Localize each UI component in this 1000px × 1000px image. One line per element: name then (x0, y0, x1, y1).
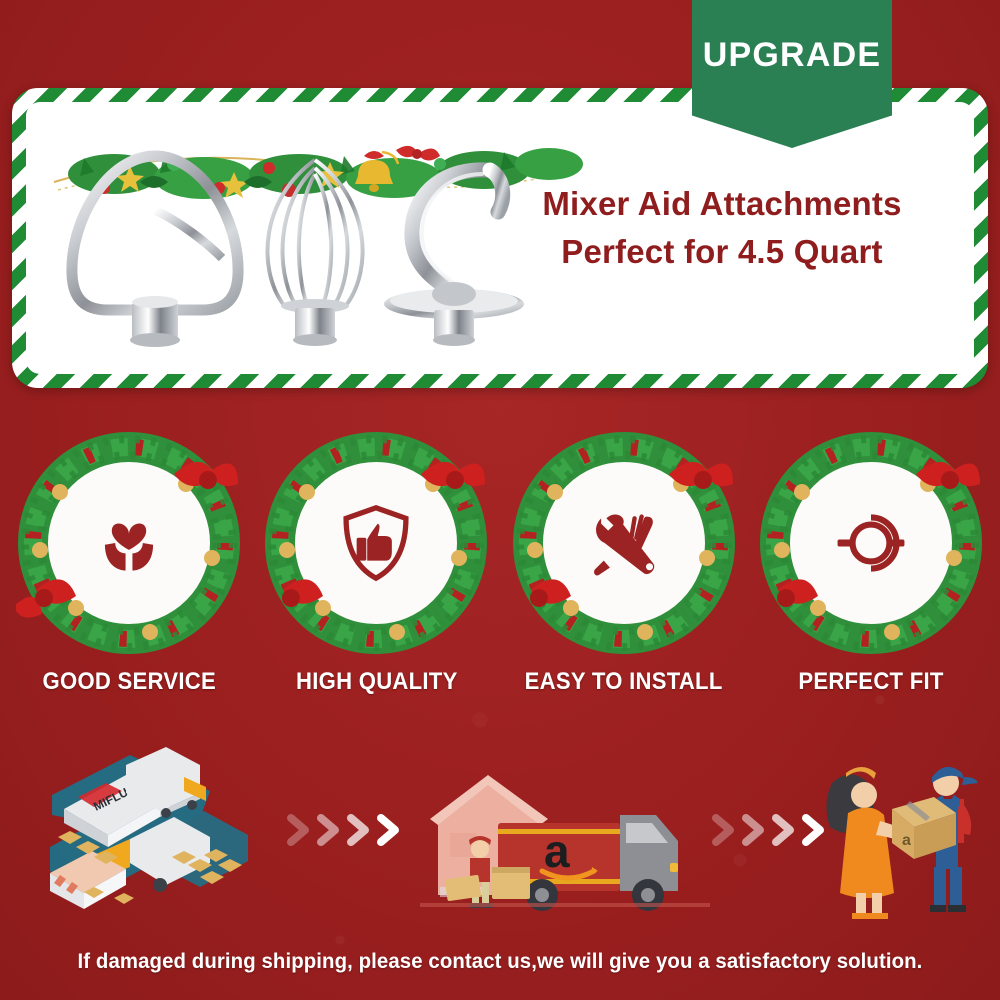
upgrade-badge-label: UPGRADE (703, 36, 881, 75)
hero-card-inner: Mixer Aid Attachments Perfect for 4.5 Qu… (26, 102, 974, 374)
hero-card: Mixer Aid Attachments Perfect for 4.5 Qu… (12, 88, 988, 388)
wreath-frame (263, 430, 489, 656)
amazon-delivery-truck-at-house: a (420, 755, 710, 920)
feature-item-good-service: GOOD SERVICE (10, 430, 248, 720)
chevron-right-icon (710, 813, 738, 847)
chevron-right-icon (770, 813, 798, 847)
thumbs-up-shield-icon (293, 460, 459, 626)
shipping-damage-note: If damaged during shipping, please conta… (15, 950, 985, 974)
feature-item-high-quality: HIGH QUALITY (257, 430, 495, 720)
wreath-frame (511, 430, 737, 656)
hero-title-line2: Perfect for 4.5 Quart (496, 228, 948, 276)
isometric-warehouse-logistics: MIFLUS (34, 743, 284, 923)
feature-label: PERFECT FIT (798, 668, 943, 696)
courier-handing-package-to-customer: a (806, 747, 992, 927)
attachment-group (60, 144, 530, 350)
target-fit-icon (788, 460, 954, 626)
feature-list: GOOD SERVICE (10, 430, 990, 720)
chevron-right-icon (315, 813, 343, 847)
wreath-frame (16, 430, 242, 656)
feature-label: GOOD SERVICE (42, 668, 215, 696)
feature-item-easy-to-install: EASY TO INSTALL (505, 430, 743, 720)
feature-item-perfect-fit: PERFECT FIT (752, 430, 990, 720)
flat-beater-attachment (60, 150, 250, 350)
feature-label: HIGH QUALITY (296, 668, 458, 696)
page-title: Mixer Aid Attachments Perfect for 4.5 Qu… (496, 180, 948, 276)
amazon-logo-letter: a (544, 825, 570, 877)
wreath-frame (758, 430, 984, 656)
chevron-right-icon (375, 813, 403, 847)
heart-in-hands-icon (46, 460, 212, 626)
arrow-chevrons-1 (285, 813, 403, 847)
infographic-canvas: Mixer Aid Attachments Perfect for 4.5 Qu… (0, 0, 1000, 1000)
chevron-right-icon (285, 813, 313, 847)
shipping-process-row: MIFLUS (0, 735, 1000, 935)
feature-label: EASY TO INSTALL (525, 668, 723, 696)
wrench-screwdriver-icon (541, 460, 707, 626)
chevron-right-icon (345, 813, 373, 847)
chevron-right-icon (740, 813, 768, 847)
hero-title-line1: Mixer Aid Attachments (496, 180, 948, 228)
wire-whisk-attachment (255, 150, 375, 350)
svg-text:a: a (902, 832, 911, 849)
